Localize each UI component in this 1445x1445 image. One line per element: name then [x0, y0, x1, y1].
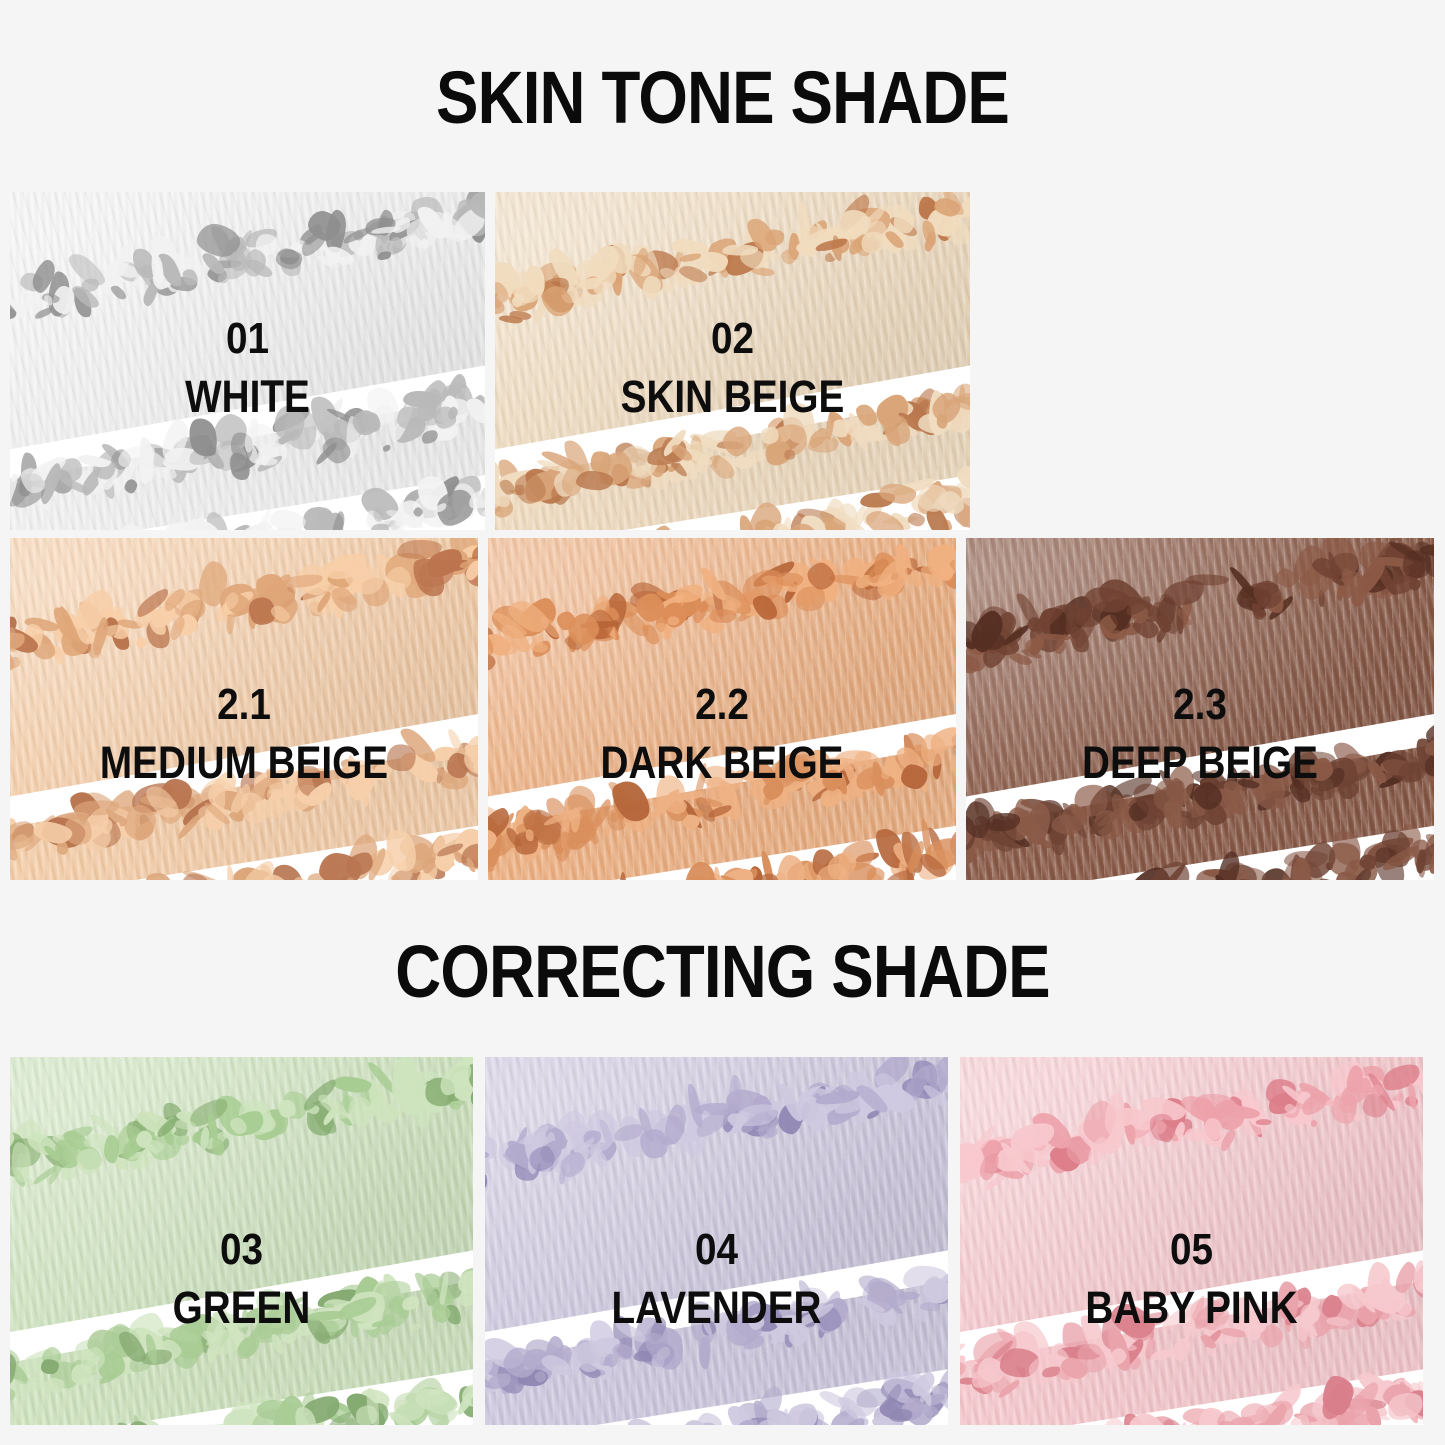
swatch-code: 2.2 — [516, 680, 928, 730]
swatch-tile-21-medium-beige[interactable]: 2.1 MEDIUM BEIGE — [10, 538, 478, 880]
section-heading-correcting: CORRECTING SHADE — [101, 930, 1344, 1014]
swatch-code: 05 — [988, 1225, 1395, 1275]
swatch-label: 2.3 DEEP BEIGE — [966, 680, 1434, 790]
swatch-label: 05 BABY PINK — [960, 1225, 1423, 1335]
swatch-name: GREEN — [42, 1281, 440, 1335]
swatch-label: 03 GREEN — [10, 1225, 473, 1335]
swatch-code: 2.1 — [38, 680, 450, 730]
swatch-code: 04 — [513, 1225, 920, 1275]
swatch-tile-04-lavender[interactable]: 04 LAVENDER — [485, 1057, 948, 1425]
swatch-name: MEDIUM BEIGE — [43, 736, 445, 790]
swatch-name: SKIN BEIGE — [528, 370, 937, 424]
swatch-label: 02 SKIN BEIGE — [495, 314, 970, 424]
swatch-label: 2.2 DARK BEIGE — [488, 680, 956, 790]
swatch-name: DARK BEIGE — [521, 736, 923, 790]
swatch-name: BABY PINK — [992, 1281, 1390, 1335]
swatch-tile-05-baby-pink[interactable]: 05 BABY PINK — [960, 1057, 1423, 1425]
swatch-tile-02-skin-beige[interactable]: 02 SKIN BEIGE — [495, 192, 970, 530]
swatch-label: 01 WHITE — [10, 314, 485, 424]
swatch-tile-01-white[interactable]: 01 WHITE — [10, 192, 485, 530]
swatch-code: 01 — [39, 314, 457, 364]
swatch-tile-03-green[interactable]: 03 GREEN — [10, 1057, 473, 1425]
swatch-tile-23-deep-beige[interactable]: 2.3 DEEP BEIGE — [966, 538, 1434, 880]
shade-chart-page: SKIN TONE SHADE 01 WHITE 02 SKIN BEIGE — [0, 0, 1445, 1445]
swatch-row-skin-tone-2: 2.1 MEDIUM BEIGE 2.2 DARK BEIGE 2.3 DEEP — [10, 538, 1435, 880]
swatch-label: 2.1 MEDIUM BEIGE — [10, 680, 478, 790]
swatch-code: 2.3 — [994, 680, 1406, 730]
swatch-code: 02 — [524, 314, 942, 364]
swatch-label: 04 LAVENDER — [485, 1225, 948, 1335]
swatch-row-correcting: 03 GREEN 04 LAVENDER 05 BABY PINK — [10, 1057, 1425, 1425]
swatch-name: LAVENDER — [517, 1281, 915, 1335]
swatch-code: 03 — [38, 1225, 445, 1275]
swatch-tile-22-dark-beige[interactable]: 2.2 DARK BEIGE — [488, 538, 956, 880]
swatch-name: WHITE — [43, 370, 452, 424]
swatch-row-skin-tone-1: 01 WHITE 02 SKIN BEIGE — [10, 192, 1435, 530]
swatch-name: DEEP BEIGE — [999, 736, 1401, 790]
section-heading-skin-tone: SKIN TONE SHADE — [101, 56, 1344, 140]
